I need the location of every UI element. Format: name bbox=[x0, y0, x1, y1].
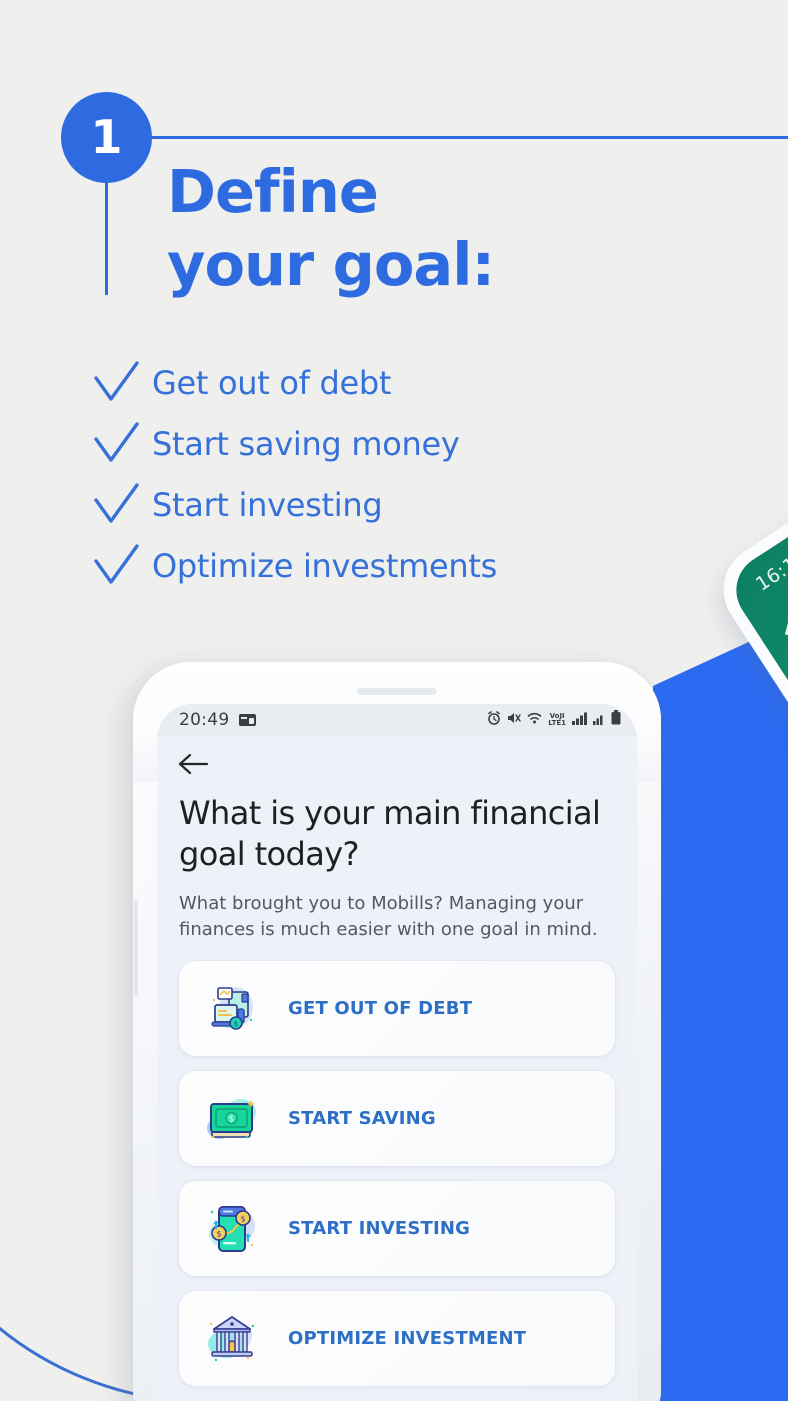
battery-icon bbox=[611, 710, 621, 730]
secondary-status-time: 16:1 bbox=[752, 553, 788, 596]
phone-screen: 20:49 VoJI LTE1 bbox=[157, 704, 637, 1401]
checklist-item: Start investing bbox=[92, 474, 712, 535]
mute-icon bbox=[507, 710, 521, 730]
phone-mockup: 20:49 VoJI LTE1 bbox=[133, 662, 661, 1401]
check-icon bbox=[92, 421, 152, 467]
svg-text:$: $ bbox=[216, 1229, 221, 1238]
step-number-badge: 1 bbox=[61, 92, 152, 183]
back-arrow-icon[interactable] bbox=[775, 605, 788, 651]
checklist-item-label: Get out of debt bbox=[152, 365, 391, 401]
promo-screenshot: 1 Define your goal: Get out of debt Star… bbox=[0, 0, 788, 1401]
screen-heading: What is your main financial goal today? bbox=[179, 793, 615, 875]
goal-option-label: GET OUT OF DEBT bbox=[288, 998, 472, 1019]
check-icon bbox=[92, 360, 152, 406]
goal-option-card[interactable]: $ START SAVING bbox=[179, 1071, 615, 1166]
volume-button[interactable] bbox=[134, 900, 138, 996]
checklist-item: Start saving money bbox=[92, 413, 712, 474]
status-bar: 20:49 VoJI LTE1 bbox=[157, 704, 637, 736]
screen-content: What is your main financial goal today? … bbox=[157, 736, 637, 1386]
svg-text:$: $ bbox=[240, 1214, 245, 1223]
checklist-item-label: Start saving money bbox=[152, 426, 459, 462]
network-type-label: VoJI LTE1 bbox=[548, 713, 566, 727]
status-bar-time: 20:49 bbox=[179, 710, 230, 730]
svg-text:$: $ bbox=[229, 1114, 235, 1124]
sd-card-icon bbox=[239, 713, 256, 727]
checklist-item-label: Optimize investments bbox=[152, 548, 497, 584]
check-icon bbox=[92, 482, 152, 528]
checklist-item-label: Start investing bbox=[152, 487, 382, 523]
screen-subtitle: What brought you to Mobills? Managing yo… bbox=[179, 891, 615, 943]
goal-checklist: Get out of debt Start saving money Start… bbox=[92, 352, 712, 596]
goal-options-list: $ GET OUT OF DEBT bbox=[179, 961, 615, 1386]
goal-option-card[interactable]: OPTIMIZE INVESTMENT bbox=[179, 1291, 615, 1386]
page-title: Define your goal: bbox=[167, 155, 727, 301]
check-icon bbox=[92, 543, 152, 589]
step-vertical-rule bbox=[105, 170, 108, 295]
page-title-line-1: Define bbox=[167, 157, 378, 226]
signal-icon bbox=[572, 710, 587, 730]
network-label-bottom: LTE1 bbox=[548, 719, 566, 727]
debt-documents-icon: $ bbox=[201, 978, 263, 1040]
checklist-item: Get out of debt bbox=[92, 352, 712, 413]
secondary-phone-mockup: 16:1 bbox=[706, 413, 788, 937]
secondary-phone-screen: 16:1 bbox=[723, 429, 788, 920]
step-horizontal-rule bbox=[148, 136, 788, 139]
signal-2-icon bbox=[593, 710, 605, 730]
page-title-line-2: your goal: bbox=[167, 228, 727, 301]
goal-option-label: START INVESTING bbox=[288, 1218, 470, 1239]
bank-building-icon bbox=[201, 1308, 263, 1370]
status-bar-icons: VoJI LTE1 bbox=[487, 710, 621, 730]
wifi-icon bbox=[527, 710, 542, 730]
earpiece-speaker bbox=[357, 688, 437, 695]
power-button[interactable] bbox=[655, 894, 660, 1014]
banknote-icon: $ bbox=[201, 1088, 263, 1150]
back-arrow-icon[interactable] bbox=[157, 736, 637, 789]
goal-option-card[interactable]: $ $ START INVESTING bbox=[179, 1181, 615, 1276]
checklist-item: Optimize investments bbox=[92, 535, 712, 596]
goal-option-label: START SAVING bbox=[288, 1108, 436, 1129]
step-number-label: 1 bbox=[90, 114, 122, 160]
svg-text:$: $ bbox=[234, 1020, 238, 1028]
goal-option-label: OPTIMIZE INVESTMENT bbox=[288, 1328, 526, 1349]
alarm-icon bbox=[487, 710, 501, 730]
phone-coins-chart-icon: $ $ bbox=[201, 1198, 263, 1260]
goal-option-card[interactable]: $ GET OUT OF DEBT bbox=[179, 961, 615, 1056]
